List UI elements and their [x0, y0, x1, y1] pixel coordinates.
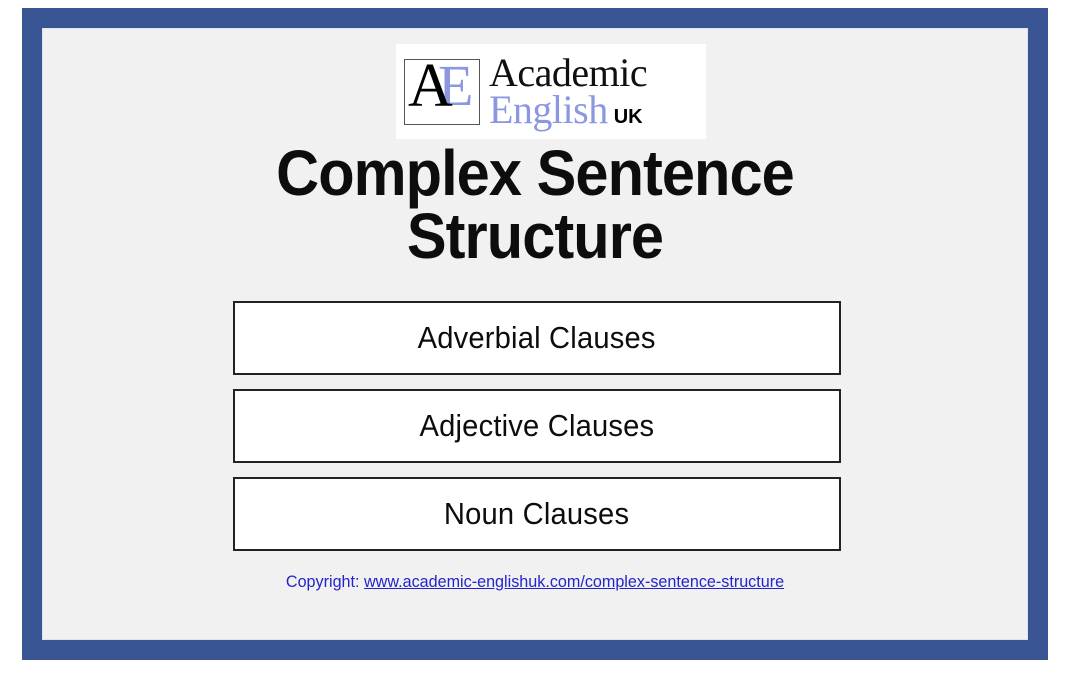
- page-title-line-2: Structure: [77, 205, 992, 268]
- slide-frame: A E Academic English UK Complex Sentence…: [22, 8, 1048, 660]
- academic-english-uk-logo: A E Academic English UK: [396, 44, 706, 139]
- logo-word-uk: UK: [614, 108, 643, 126]
- clause-box-adverbial[interactable]: Adverbial Clauses: [233, 301, 841, 375]
- logo-word-english-uk: English UK: [489, 92, 647, 129]
- clause-label: Adverbial Clauses: [418, 320, 656, 356]
- copyright-url-link[interactable]: www.academic-englishuk.com/complex-sente…: [364, 572, 784, 591]
- logo-word-academic: Academic: [489, 55, 647, 92]
- clause-box-adjective[interactable]: Adjective Clauses: [233, 389, 841, 463]
- copyright-label: Copyright:: [286, 572, 360, 591]
- logo-word-english: English: [489, 92, 608, 129]
- logo-letter-a: A: [408, 55, 453, 117]
- slide-canvas: A E Academic English UK Complex Sentence…: [42, 28, 1028, 640]
- clause-label: Noun Clauses: [444, 496, 629, 532]
- logo-wordmark: Academic English UK: [489, 55, 647, 129]
- clause-type-list: Adverbial Clauses Adjective Clauses Noun…: [233, 301, 841, 565]
- page-title: Complex Sentence Structure: [77, 142, 992, 269]
- copyright: Copyright: www.academic-englishuk.com/co…: [68, 572, 1003, 592]
- logo-monogram-icon: A E: [404, 59, 480, 125]
- clause-label: Adjective Clauses: [420, 408, 655, 444]
- clause-box-noun[interactable]: Noun Clauses: [233, 477, 841, 551]
- page-title-line-1: Complex Sentence: [77, 142, 992, 205]
